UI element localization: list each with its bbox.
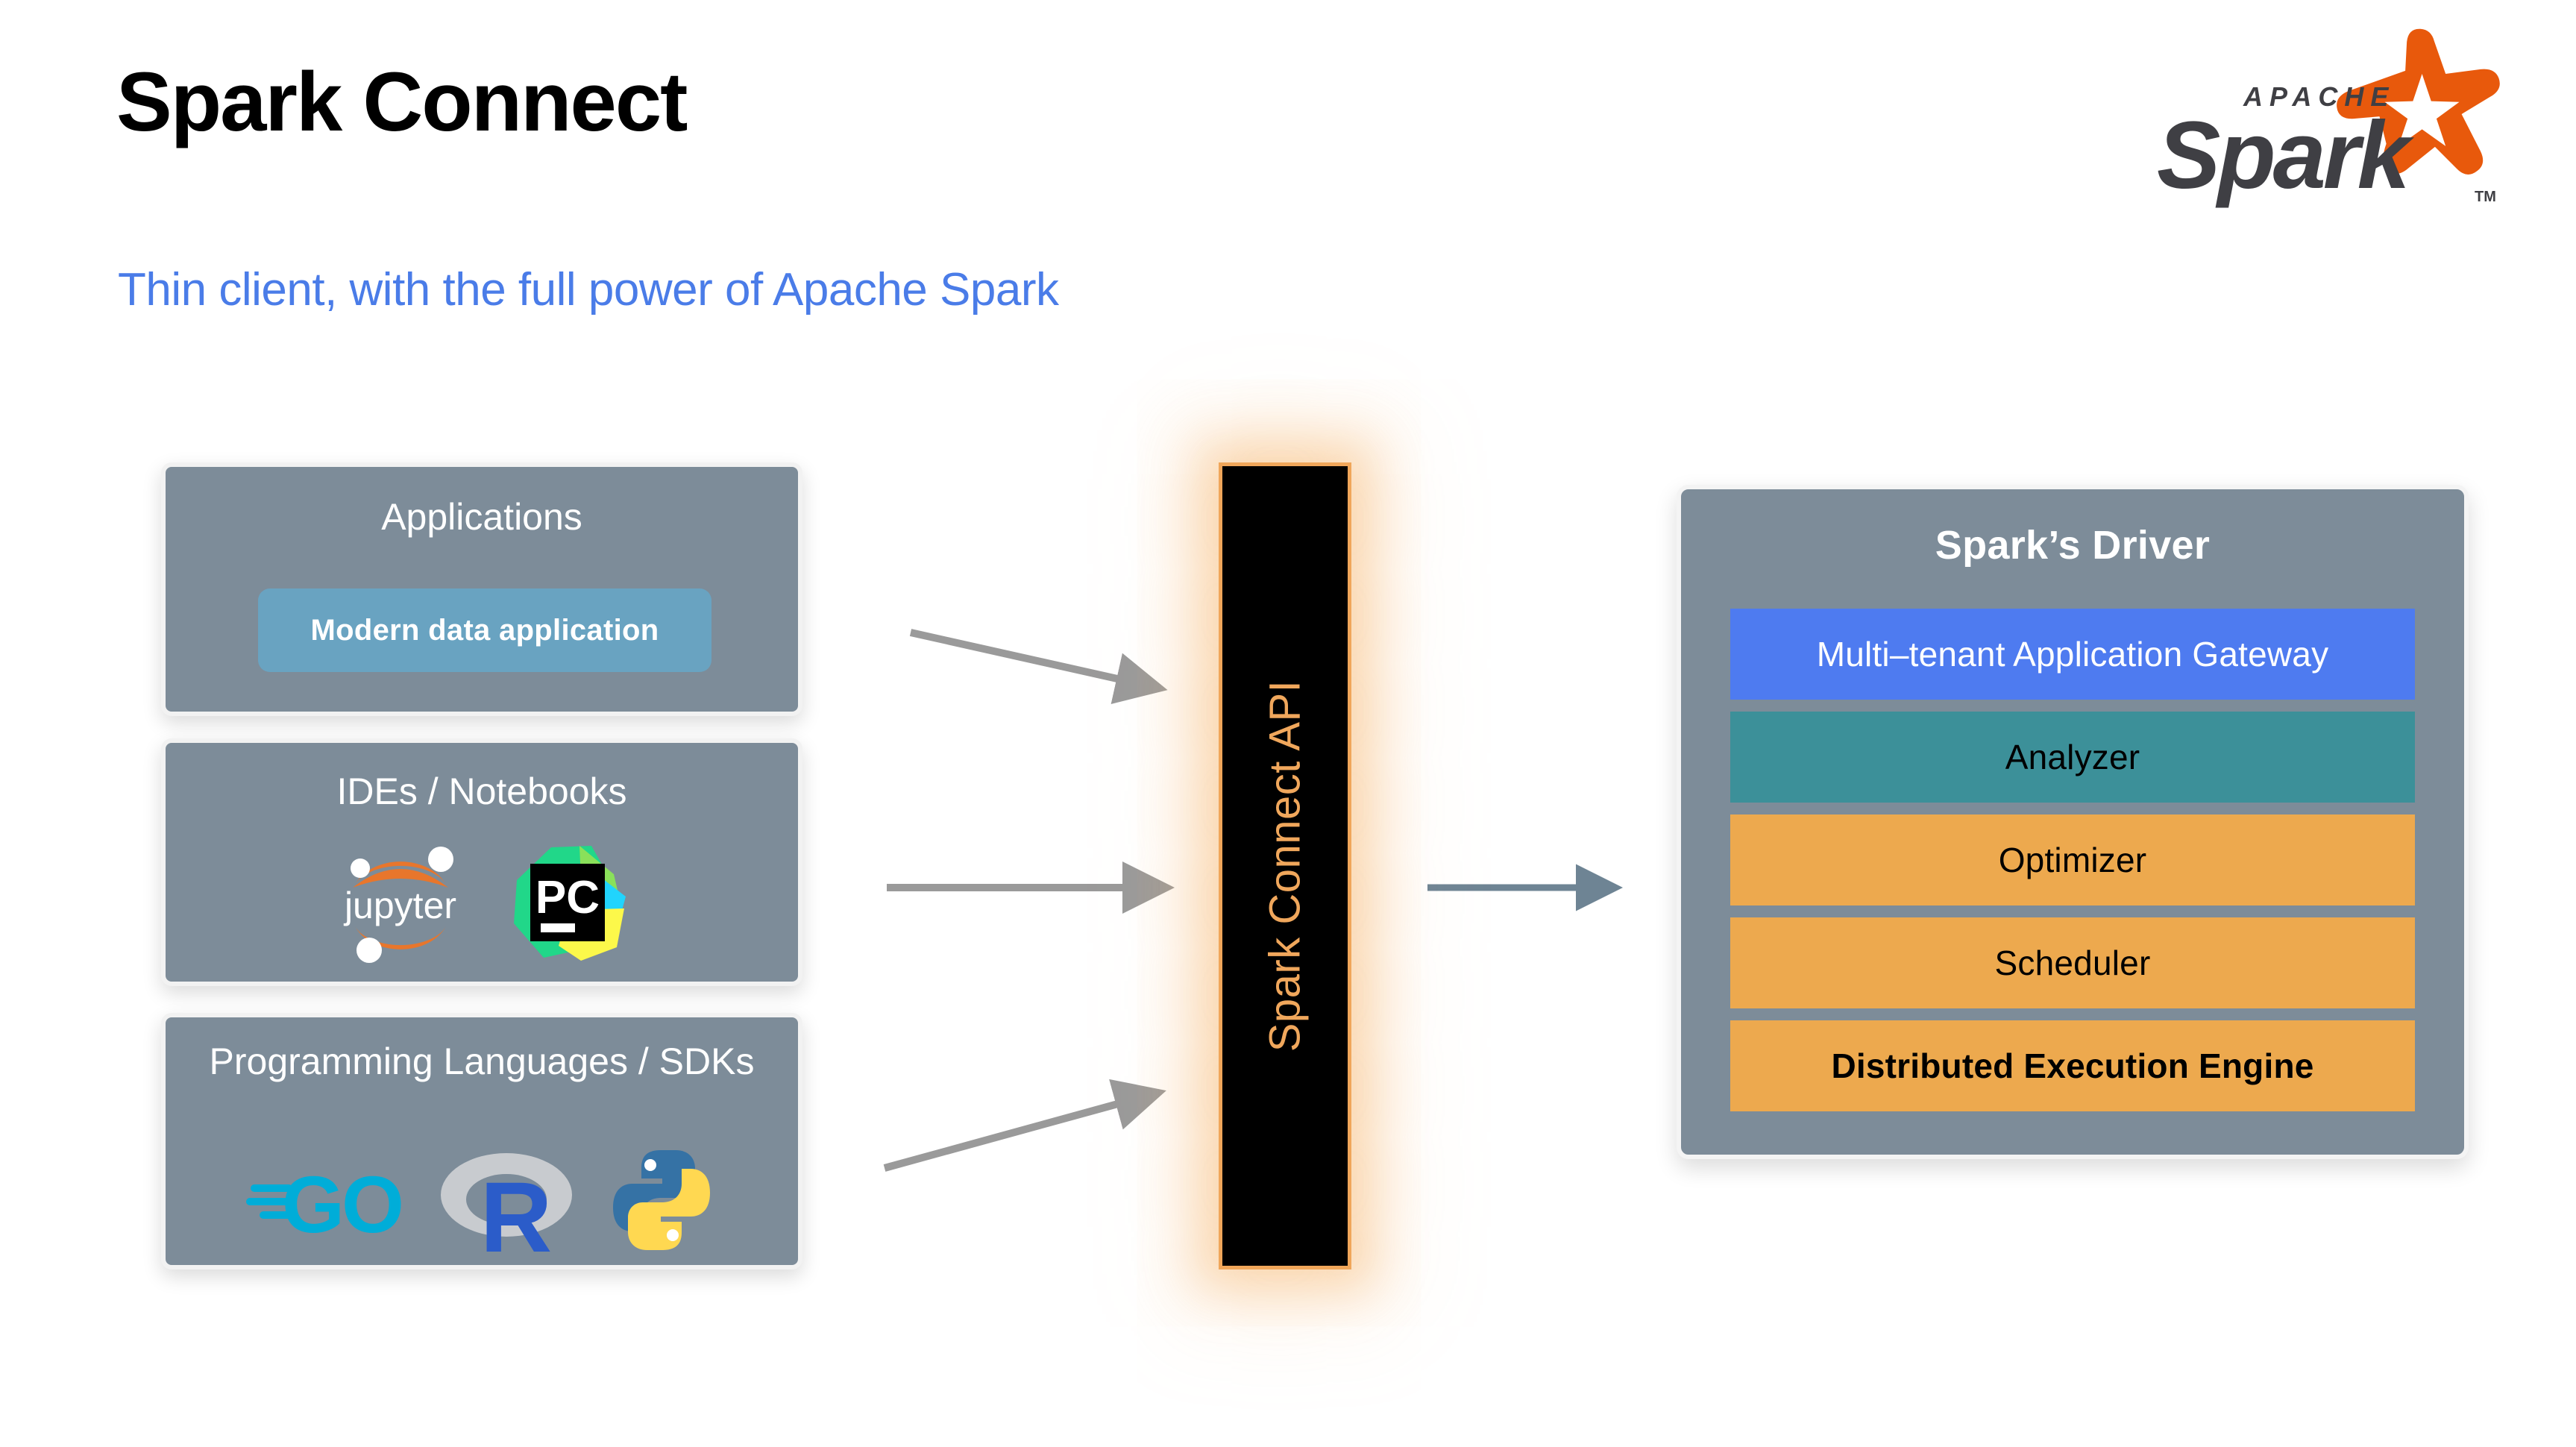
python-logo bbox=[606, 1144, 717, 1260]
spark-driver-row-list: Multi–tenant Application Gateway Analyze… bbox=[1730, 609, 2415, 1111]
client-box-title-programming-languages: Programming Languages / SDKs bbox=[166, 1040, 798, 1084]
r-logo-letter: R bbox=[480, 1162, 553, 1256]
go-logo: GO bbox=[246, 1155, 407, 1249]
language-logo-row: GO R bbox=[166, 1144, 798, 1260]
driver-row-scheduler[interactable]: Scheduler bbox=[1730, 917, 2415, 1008]
driver-row-label: Optimizer bbox=[1999, 840, 2147, 880]
jupyter-logo-wordmark: jupyter bbox=[343, 885, 456, 926]
spark-logo-trademark: TM bbox=[2475, 189, 2496, 205]
spark-driver-panel[interactable]: Spark’s Driver Multi–tenant Application … bbox=[1677, 485, 2469, 1159]
page-title: Spark Connect bbox=[116, 58, 686, 146]
driver-row-gateway[interactable]: Multi–tenant Application Gateway bbox=[1730, 609, 2415, 700]
driver-row-label: Scheduler bbox=[1995, 943, 2151, 983]
driver-row-optimizer[interactable]: Optimizer bbox=[1730, 814, 2415, 905]
page-subtitle: Thin client, with the full power of Apac… bbox=[118, 263, 1058, 316]
jupyter-logo: jupyter bbox=[333, 838, 468, 973]
slide-canvas: Spark Connect Thin client, with the full… bbox=[0, 0, 2576, 1447]
go-logo-wordmark: GO bbox=[282, 1159, 401, 1246]
client-box-title-ides-notebooks: IDEs / Notebooks bbox=[166, 770, 798, 814]
arrow-languages-to-connect bbox=[880, 1074, 1171, 1186]
apache-spark-logo: APACHE Spark TM bbox=[2134, 16, 2515, 218]
arrow-ides-to-connect bbox=[884, 865, 1167, 910]
driver-row-label: Analyzer bbox=[2005, 737, 2140, 777]
driver-row-label: Multi–tenant Application Gateway bbox=[1817, 634, 2329, 674]
modern-data-application-label: Modern data application bbox=[311, 614, 659, 647]
driver-row-label: Distributed Execution Engine bbox=[1831, 1046, 2313, 1086]
client-box-applications[interactable]: Applications Modern data application bbox=[161, 462, 802, 716]
client-box-ides-notebooks[interactable]: IDEs / Notebooks jupyter bbox=[161, 738, 802, 986]
r-logo: R bbox=[439, 1144, 574, 1260]
spark-connect-api-bar[interactable]: Spark Connect API bbox=[1219, 462, 1351, 1269]
arrow-applications-to-connect bbox=[906, 619, 1160, 709]
ide-logo-row: jupyter PC bbox=[166, 838, 798, 973]
spark-connect-api-label: Spark Connect API bbox=[1260, 680, 1310, 1052]
pycharm-logo-label: PC bbox=[535, 872, 600, 923]
arrow-connect-to-driver bbox=[1424, 865, 1618, 910]
spark-logo-word: Spark bbox=[2157, 102, 2415, 209]
pycharm-logo: PC bbox=[505, 841, 630, 970]
spark-driver-title: Spark’s Driver bbox=[1681, 522, 2464, 568]
client-box-programming-languages[interactable]: Programming Languages / SDKs GO R bbox=[161, 1013, 802, 1269]
driver-row-analyzer[interactable]: Analyzer bbox=[1730, 712, 2415, 803]
modern-data-application-card[interactable]: Modern data application bbox=[258, 588, 711, 672]
client-box-title-applications: Applications bbox=[166, 495, 798, 539]
driver-row-distributed-execution-engine[interactable]: Distributed Execution Engine bbox=[1730, 1020, 2415, 1111]
